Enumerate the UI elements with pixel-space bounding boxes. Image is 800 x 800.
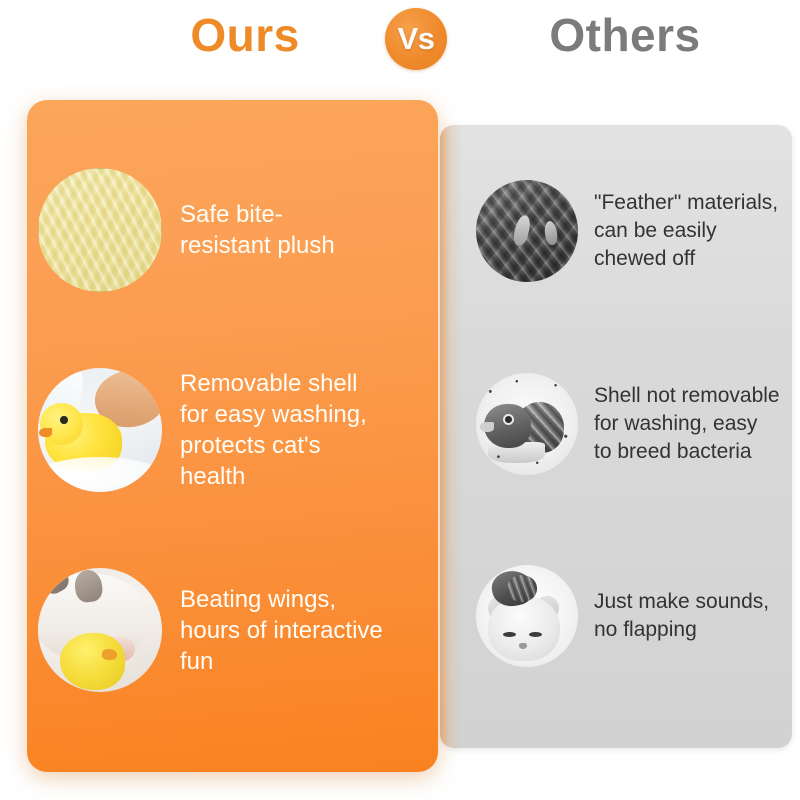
gray-cat-with-toy-icon [476, 565, 578, 667]
ours-feature-row-3: Beating wings, hours of interactive fun [38, 568, 388, 692]
ours-feature-3-line-2: hours of interactive [180, 615, 383, 646]
vs-badge-label: Vs [385, 8, 447, 70]
others-feature-row-1: "Feather" materials, can be easily chewe… [476, 180, 786, 282]
ours-feature-3-line-1: Beating wings, [180, 584, 383, 615]
ours-heading: Ours [120, 8, 370, 62]
others-feature-text-2: Shell not removable for washing, easy to… [594, 382, 780, 466]
ours-feature-3-line-3: fun [180, 646, 383, 677]
others-feature-1-line-1: "Feather" materials, [594, 189, 778, 217]
others-feature-2-line-2: for washing, easy [594, 410, 780, 438]
ours-feature-1-line-1: Safe bite- [180, 199, 335, 230]
ours-feature-2-line-3: protects cat's health [180, 430, 388, 492]
gray-bird-toy-icon [476, 373, 578, 475]
others-feature-2-line-1: Shell not removable [594, 382, 780, 410]
others-feature-3-line-2: no flapping [594, 616, 769, 644]
cat-playing-with-chick-toy-icon [38, 568, 162, 692]
others-feature-text-3: Just make sounds, no flapping [594, 588, 769, 644]
ours-feature-2-line-2: for easy washing, [180, 399, 388, 430]
chick-being-washed-icon [38, 368, 162, 492]
others-feature-1-line-3: chewed off [594, 245, 778, 273]
others-heading: Others [500, 8, 750, 62]
others-panel: "Feather" materials, can be easily chewe… [440, 125, 792, 748]
ours-feature-row-2: Removable shell for easy washing, protec… [38, 368, 388, 492]
others-feature-row-3: Just make sounds, no flapping [476, 565, 786, 667]
others-feature-text-1: "Feather" materials, can be easily chewe… [594, 189, 778, 273]
others-feature-3-line-1: Just make sounds, [594, 588, 769, 616]
ours-feature-2-line-1: Removable shell [180, 368, 388, 399]
ours-feature-text-1: Safe bite- resistant plush [180, 199, 335, 261]
vs-badge: Vs [385, 8, 447, 70]
comparison-header: Ours Vs Others [0, 0, 800, 86]
ours-feature-row-1: Safe bite- resistant plush [38, 168, 388, 292]
yellow-plush-fur-icon [38, 168, 162, 292]
others-feature-2-line-3: to breed bacteria [594, 438, 780, 466]
others-feature-1-line-2: can be easily [594, 217, 778, 245]
ours-feature-text-2: Removable shell for easy washing, protec… [180, 368, 388, 492]
others-feature-row-2: Shell not removable for washing, easy to… [476, 373, 786, 475]
ours-feature-1-line-2: resistant plush [180, 230, 335, 261]
gray-feather-texture-icon [476, 180, 578, 282]
ours-feature-text-3: Beating wings, hours of interactive fun [180, 584, 383, 677]
